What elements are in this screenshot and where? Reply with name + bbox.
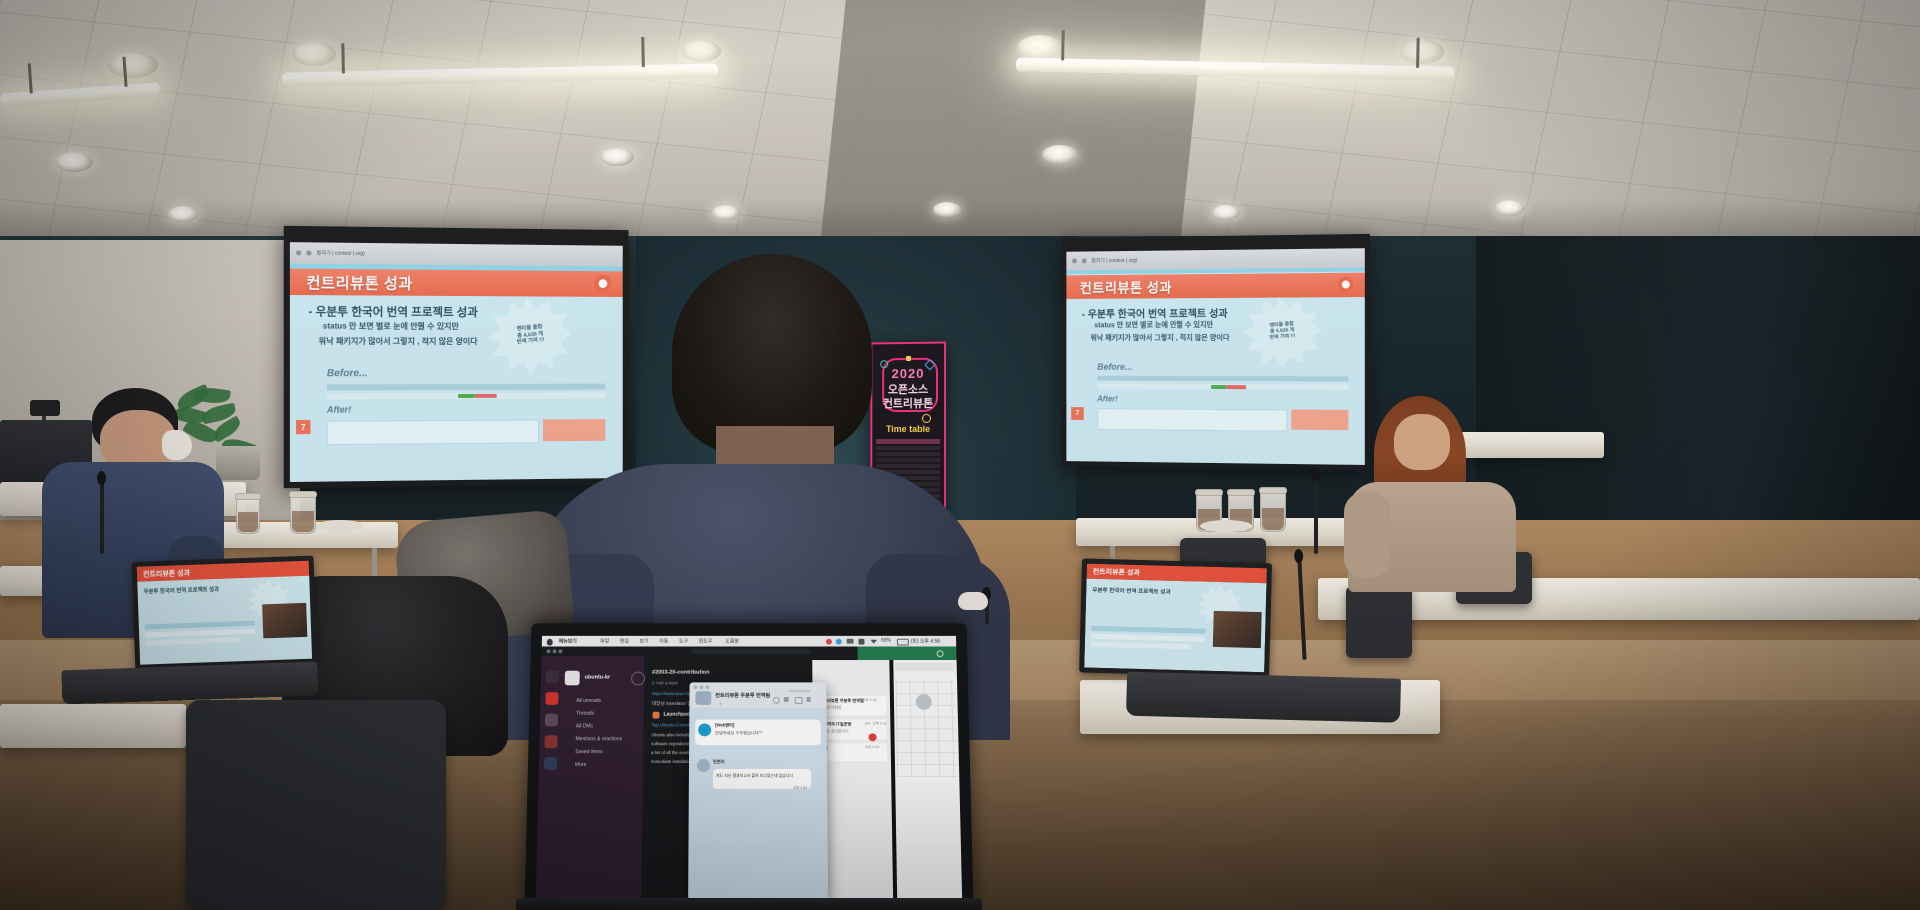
slack-message-2[interactable]: Launchpad — [663, 712, 690, 718]
browser-nav-icon — [306, 251, 311, 256]
cup-liquid — [238, 512, 258, 532]
kakao-list-count-1: 154 — [864, 722, 870, 726]
menu-item-5[interactable]: 도구 — [679, 638, 688, 645]
downlight-icon — [712, 205, 740, 220]
slack-sidebar-item-3[interactable]: Mentions & reactions — [575, 736, 622, 742]
slide-before-label: Before... — [327, 368, 368, 379]
kakao-avatar-icon — [698, 724, 711, 737]
downlight-icon — [108, 52, 158, 78]
drink-cup — [1260, 490, 1286, 532]
kakao-member-count: 4 — [719, 701, 721, 706]
close-icon[interactable] — [547, 649, 551, 653]
app-rail-icon[interactable] — [545, 714, 558, 727]
cup-liquid — [1262, 508, 1284, 530]
battery-percent: 69% — [881, 638, 891, 644]
kakao-sender-0: [Web멘티] — [715, 723, 734, 729]
kakao-text-0: 안녕하세요 우부웠습니다^^ — [715, 730, 762, 736]
ubuntu-logo-icon — [1338, 277, 1353, 292]
downlight-icon — [1400, 40, 1444, 64]
starburst-line-3: 번역 기여 !!! — [1269, 334, 1295, 342]
drink-cup — [236, 496, 260, 534]
drink-cup — [290, 494, 316, 534]
microphone-head — [97, 471, 106, 485]
menu-bar[interactable]: 메뉴보기 파일 편집 보기 이동 도구 윈도우 도움말 69% (토) 오후 4… — [542, 636, 956, 647]
mini-slide-title: 컨트리뷰톤 성과 — [1093, 566, 1140, 577]
mini-slide-photo — [1213, 611, 1262, 648]
laptop-center[interactable]: 메뉴보기 파일 편집 보기 이동 도구 윈도우 도움말 69% (토) 오후 4… — [524, 623, 973, 910]
kakao-room-avatar — [695, 691, 711, 705]
slide-right: 활자기 | contest (.org) 컨트리뷰톤 성과 - 우분투 한국어 … — [1066, 248, 1364, 465]
chair-left-front — [186, 700, 446, 910]
status-bar-good — [1211, 385, 1226, 389]
menu-item-6[interactable]: 윈도우 — [699, 638, 713, 645]
menubar-status-icon[interactable] — [836, 638, 842, 644]
laptop-right[interactable]: 컨트리뷰톤 성과 우분투 한국어 번역 프로젝트 성과 — [1078, 558, 1356, 721]
maximize-icon[interactable] — [558, 649, 562, 653]
slack-workspace-name[interactable]: ubuntu-kr — [585, 675, 611, 681]
slide-page-number: 7 — [1071, 407, 1084, 420]
slide-after-label: After! — [1097, 394, 1118, 403]
slack-message-7: immediate installation — [651, 759, 693, 764]
downlight-icon — [933, 202, 961, 217]
close-icon[interactable] — [693, 685, 697, 689]
table-header-row — [1097, 376, 1348, 382]
microphone-head — [1311, 467, 1320, 481]
laptop-lid: 컨트리뷰톤 성과 우분투 한국어 번역 프로젝트 성과 — [1079, 558, 1272, 677]
laptop-lid: 컨트리뷰톤 성과 우분투 한국어 번역 프로젝트 성과 — [132, 556, 318, 670]
downlight-icon — [292, 42, 336, 66]
menubar-status-icon[interactable] — [847, 639, 854, 644]
slack-sidebar-item-2[interactable]: All DMs — [576, 724, 593, 730]
slide-title-band: 컨트리뷰톤 성과 — [1066, 272, 1364, 298]
chair-right — [1346, 586, 1412, 658]
downlight-icon — [600, 148, 634, 166]
laptop-base[interactable] — [1126, 672, 1401, 723]
status-bar-bad — [475, 394, 497, 398]
slide-after-panel-highlight — [1291, 410, 1348, 431]
maximize-icon[interactable] — [705, 685, 709, 689]
slide-bullet-sub-1: status 만 보면 별로 눈에 안띌 수 있지만 — [1094, 320, 1213, 330]
slack-workspace-icon[interactable] — [565, 671, 580, 686]
menu-item-4[interactable]: 이동 — [659, 638, 668, 645]
slide-bullet-main: - 우분투 한국어 번역 프로젝트 성과 — [308, 303, 477, 320]
kakao-toolbar-icon[interactable] — [795, 697, 803, 704]
slide-after-panel — [327, 420, 539, 446]
plate — [1200, 520, 1252, 532]
head — [1394, 414, 1450, 470]
cup-lid — [1259, 487, 1287, 494]
menu-item-2[interactable]: 편집 — [620, 638, 629, 645]
kakao-unread-badge — [869, 733, 877, 741]
person-attendee-right — [1344, 396, 1520, 592]
laptop-lid: 메뉴보기 파일 편집 보기 이동 도구 윈도우 도움말 69% (토) 오후 4… — [524, 623, 973, 910]
browser-nav-icon — [1082, 258, 1087, 263]
downlight-icon — [1212, 205, 1240, 220]
cup-liquid — [292, 511, 314, 532]
kakao-toolbar-icon[interactable] — [773, 697, 780, 704]
right-wall-panel — [1476, 236, 1920, 536]
laptop-screen-right[interactable]: 컨트리뷰톤 성과 우분투 한국어 번역 프로젝트 성과 — [1084, 564, 1267, 673]
menubar-status-icon[interactable] — [826, 638, 832, 644]
slack-channel-name[interactable]: #2003-20-contribution — [652, 670, 710, 676]
face-mask — [162, 430, 192, 460]
window-controls[interactable] — [547, 649, 563, 653]
kakao-collapse-icon[interactable] — [789, 690, 811, 692]
cup-lid — [1195, 489, 1223, 496]
kakao-avatar-icon — [697, 759, 710, 772]
browser-tab-label: 활자기 | contest (.org) — [1091, 257, 1137, 264]
status-bar-bad — [1226, 385, 1246, 389]
laptop-center-base[interactable] — [516, 898, 982, 910]
cup-lid — [1227, 489, 1255, 496]
kakao-text-1: 저도 지난 결과보고서 올려 보고있는데 없습니다 — [716, 773, 808, 778]
cup-lid — [235, 493, 261, 500]
slack-sidebar-item-5[interactable]: More — [575, 762, 587, 768]
slide-title: 컨트리뷰톤 성과 — [306, 271, 412, 293]
menu-item-0[interactable]: 메뉴보기 — [559, 638, 577, 645]
kakao-list-time-2: 오후 4:00 — [865, 745, 880, 750]
app-rail-icon[interactable] — [544, 757, 557, 770]
menu-item-3[interactable]: 보기 — [639, 638, 648, 645]
kakao-toolbar-icon[interactable] — [807, 697, 811, 702]
app-rail-icon[interactable] — [545, 692, 558, 705]
downlight-icon — [1018, 35, 1062, 59]
app-rail-icon[interactable] — [546, 671, 559, 684]
downlight-icon — [681, 40, 721, 62]
battery-icon — [897, 639, 909, 646]
window-controls[interactable] — [693, 685, 709, 689]
plate — [316, 520, 364, 532]
slack-unfurl-icon — [653, 712, 660, 719]
browser-home-icon — [1072, 259, 1077, 264]
kakao-time-1: 오후 1:54 — [793, 785, 807, 790]
browser-home-icon — [296, 250, 301, 255]
microphone — [100, 482, 104, 554]
downlight-icon — [55, 152, 93, 172]
avatar — [916, 694, 932, 710]
downlight-icon — [168, 206, 198, 222]
desk-left-front-2 — [0, 704, 186, 748]
slide-bullet-sub-2: 워낙 패키지가 많아서 그렇지 , 적지 않은 양이다 — [319, 336, 478, 347]
minimize-icon[interactable] — [699, 685, 703, 689]
laptop-left[interactable]: 컨트리뷰톤 성과 우분투 한국어 번역 프로젝트 성과 — [58, 556, 319, 705]
conference-room-photo: 활자기 | contest (.org) 컨트리뷰톤 성과 - 우분투 한국어 … — [0, 0, 1920, 910]
slack-sidebar-item-4[interactable]: Saved items — [575, 749, 603, 755]
slide-page-number: 7 — [296, 420, 310, 434]
slide-bullet-sub-1: status 만 보면 별로 눈에 안띌 수 있지만 — [323, 321, 459, 332]
wifi-icon[interactable] — [870, 639, 877, 644]
search-icon[interactable] — [937, 650, 944, 657]
kakao-sender-1: 민현지 — [713, 759, 725, 765]
downlight-icon — [1495, 200, 1525, 216]
clock: (토) 오후 4:58 — [911, 638, 940, 645]
kakao-list-time-1: 오후 4:11 — [872, 722, 886, 727]
mouse[interactable] — [958, 592, 988, 610]
slide-after-panel — [1097, 408, 1287, 431]
kakao-chat-window[interactable]: 컨트리뷰톤 우분투 번역팀 4 [Web멘티] 안녕하세요 우부웠습니다^^ 민… — [688, 682, 828, 900]
slide-bullet-main: - 우분투 한국어 번역 프로젝트 성과 — [1082, 305, 1228, 321]
page-number-text: 7 — [301, 422, 306, 431]
kakao-list-time-0: 오후 4:44 — [862, 698, 877, 703]
kakao-toolbar-icon[interactable] — [784, 697, 789, 702]
spreadsheet-toolbar[interactable] — [895, 663, 954, 671]
app-rail-icon[interactable] — [544, 735, 557, 748]
slack-compose-icon[interactable] — [631, 672, 645, 686]
browser-tab-label: 활자기 | contest (.org) — [317, 250, 365, 258]
slide-after-label: After! — [327, 404, 351, 414]
kakao-room-title: 컨트리뷰톤 우분투 번역팀 — [715, 692, 770, 699]
slack-channel-meta[interactable]: 2 Add a topic — [652, 680, 678, 685]
menu-item-7[interactable]: 도움말 — [725, 638, 739, 645]
mini-slide-title: 컨트리뷰톤 성과 — [143, 567, 190, 579]
apple-logo-icon[interactable] — [547, 638, 553, 645]
menubar-status-icon[interactable] — [858, 638, 864, 644]
slack-sidebar-item-0[interactable]: All unreads — [576, 698, 601, 704]
projector-screen-right: 활자기 | contest (.org) 컨트리뷰톤 성과 - 우분투 한국어 … — [1062, 234, 1370, 470]
hair — [672, 254, 872, 454]
microphone — [1314, 478, 1318, 554]
minimize-icon[interactable] — [552, 649, 556, 653]
menu-item-1[interactable]: 파일 — [600, 638, 609, 645]
slide-before-table — [1097, 376, 1348, 397]
address-bar[interactable] — [692, 648, 811, 654]
status-bar-good — [458, 394, 475, 398]
laptop-screen-left[interactable]: 컨트리뷰톤 성과 우분투 한국어 번역 프로젝트 성과 — [137, 561, 312, 665]
mini-slide-photo — [262, 603, 307, 639]
page-number-text: 7 — [1076, 410, 1080, 417]
spreadsheet-grid[interactable] — [896, 678, 958, 776]
laptop-screen-center[interactable]: 메뉴보기 파일 편집 보기 이동 도구 윈도우 도움말 69% (토) 오후 4… — [536, 636, 962, 900]
slack-sidebar-item-1[interactable]: Threads — [576, 711, 594, 717]
cup-lid — [289, 491, 317, 498]
downlight-icon — [1042, 145, 1078, 164]
slide-bullet-sub-2: 워낙 패키지가 많아서 그렇지 , 적지 않은 양이다 — [1090, 333, 1229, 343]
slide-before-label: Before... — [1097, 362, 1132, 372]
slide-title: 컨트리뷰톤 성과 — [1080, 276, 1172, 297]
